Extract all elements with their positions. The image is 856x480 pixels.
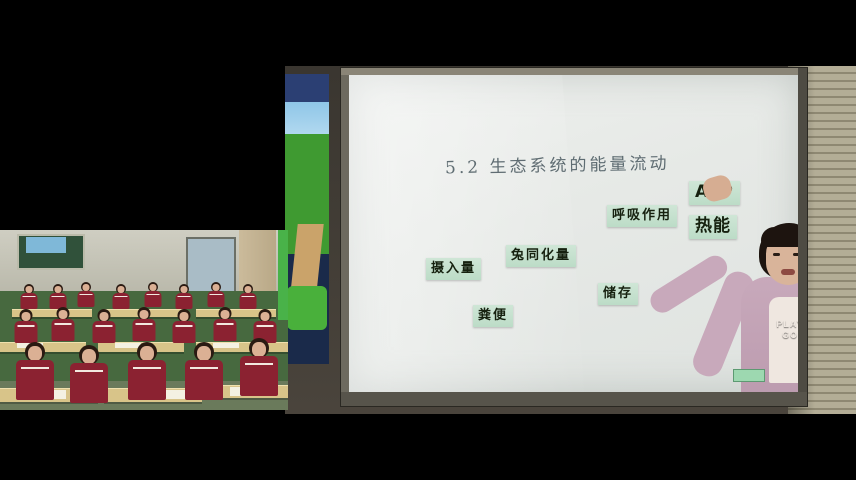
green-side-panel: [278, 230, 288, 320]
student-figure: [210, 307, 239, 343]
whiteboard-handwritten-title: 5.2 生态系统的能量流动: [445, 149, 670, 179]
teacher-eye-left: [773, 253, 780, 256]
teacher-fringe: [761, 227, 799, 247]
student-figure: [170, 309, 199, 345]
student-figure: [49, 307, 78, 343]
whiteboard-glare: [349, 75, 588, 392]
teacher-name-badge: [733, 369, 765, 382]
board-card-intake[interactable]: 摄入量: [426, 258, 481, 280]
student-figure: [236, 338, 282, 392]
teacher-figure: PLAY GO: [735, 223, 799, 392]
teacher-mouth: [781, 269, 795, 275]
student-figure: [89, 309, 118, 345]
side-display-screen: [285, 74, 329, 364]
student-figure: [181, 342, 227, 396]
whiteboard-frame: 5.2 生态系统的能量流动 呼吸作用 ATP 热能 摄入量 兔同化量 储存 粪便: [341, 68, 807, 406]
teacher-shirt-text: PLAY GO: [769, 319, 799, 341]
wall-poster: [26, 237, 66, 253]
letterbox-bottom: [0, 414, 856, 480]
student-figure: [66, 345, 112, 399]
shirt-text-line-1: PLAY: [769, 319, 799, 330]
board-card-heat-energy[interactable]: 热能: [689, 215, 737, 239]
board-card-feces[interactable]: 粪便: [473, 305, 513, 327]
whiteboard-right-edge: [798, 68, 807, 406]
classroom-camera-view: [0, 230, 288, 410]
whiteboard-marker-tray: [341, 392, 807, 406]
board-card-storage[interactable]: 储存: [598, 283, 638, 305]
board-card-respiration[interactable]: 呼吸作用: [607, 205, 677, 227]
whiteboard-camera-view: 5.2 生态系统的能量流动 呼吸作用 ATP 热能 摄入量 兔同化量 储存 粪便: [285, 66, 856, 414]
student-figure: [12, 309, 41, 345]
letterbox-top: [0, 0, 856, 60]
shirt-text-line-2: GO: [769, 330, 799, 341]
video-frame: 5.2 生态系统的能量流动 呼吸作用 ATP 热能 摄入量 兔同化量 储存 粪便: [0, 0, 856, 480]
teacher-forearm: [646, 251, 732, 317]
whiteboard-surface[interactable]: 5.2 生态系统的能量流动 呼吸作用 ATP 热能 摄入量 兔同化量 储存 粪便: [349, 75, 799, 392]
student-figure: [124, 342, 170, 396]
student-figure: [130, 307, 159, 343]
student-figure: [12, 342, 58, 396]
student-figure: [75, 282, 98, 311]
board-card-rabbit-assimilation[interactable]: 兔同化量: [506, 245, 576, 267]
letterbox-mid-gap: [239, 60, 285, 230]
